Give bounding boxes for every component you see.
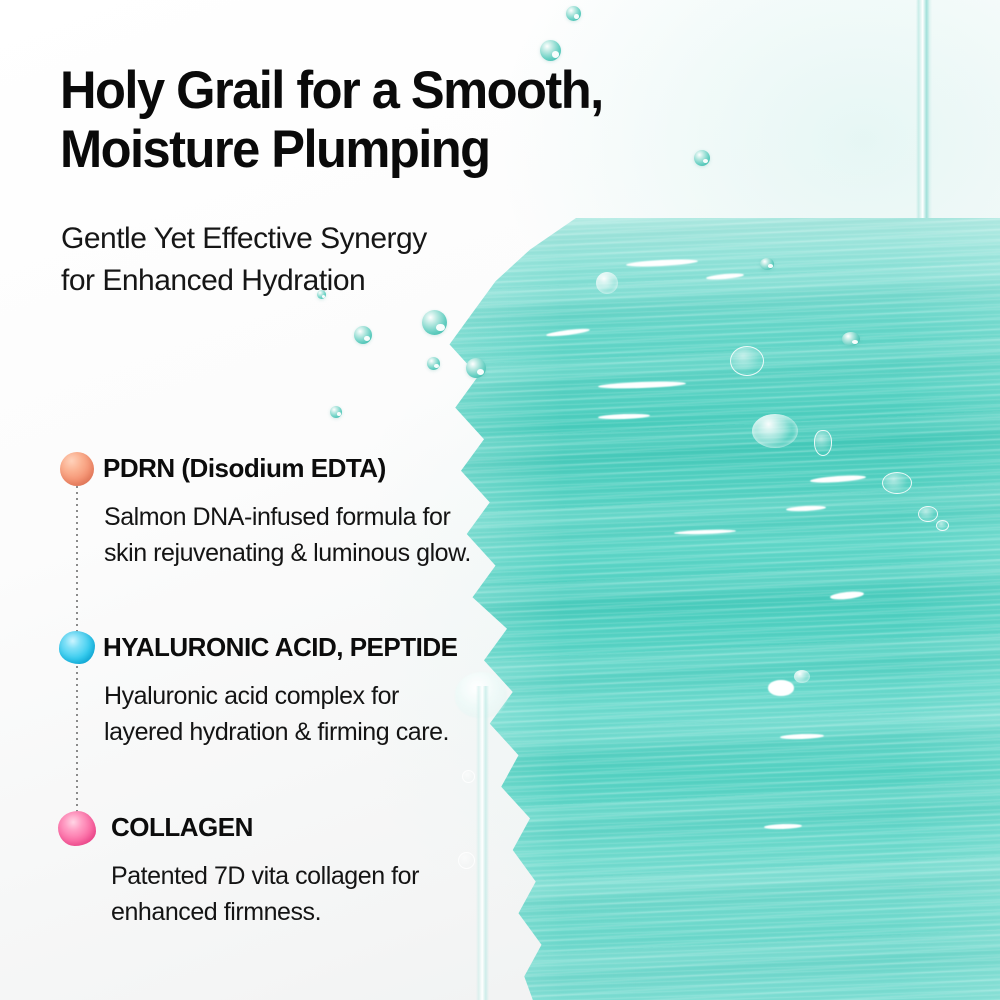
- ingredient-description: Salmon DNA-infused formula for skin reju…: [104, 500, 574, 571]
- ingredient-title: COLLAGEN: [111, 812, 253, 843]
- pink-watercolor-blob-icon: [58, 811, 96, 846]
- infographic-canvas: Holy Grail for a Smooth, Moisture Plumpi…: [0, 0, 1000, 1000]
- ingredient-list: PDRN (Disodium EDTA) Salmon DNA-infused …: [0, 0, 1000, 1000]
- ingredient-title: HYALURONIC ACID, PEPTIDE: [103, 632, 457, 663]
- ingredient-title: PDRN (Disodium EDTA): [103, 453, 386, 484]
- cyan-droplet-blob-icon: [59, 631, 95, 664]
- ingredient-description: Patented 7D vita collagen for enhanced f…: [111, 859, 581, 930]
- salmon-sphere-icon: [60, 452, 94, 486]
- text-content: Holy Grail for a Smooth, Moisture Plumpi…: [0, 0, 1000, 1000]
- ingredient-description: Hyaluronic acid complex for layered hydr…: [104, 679, 574, 750]
